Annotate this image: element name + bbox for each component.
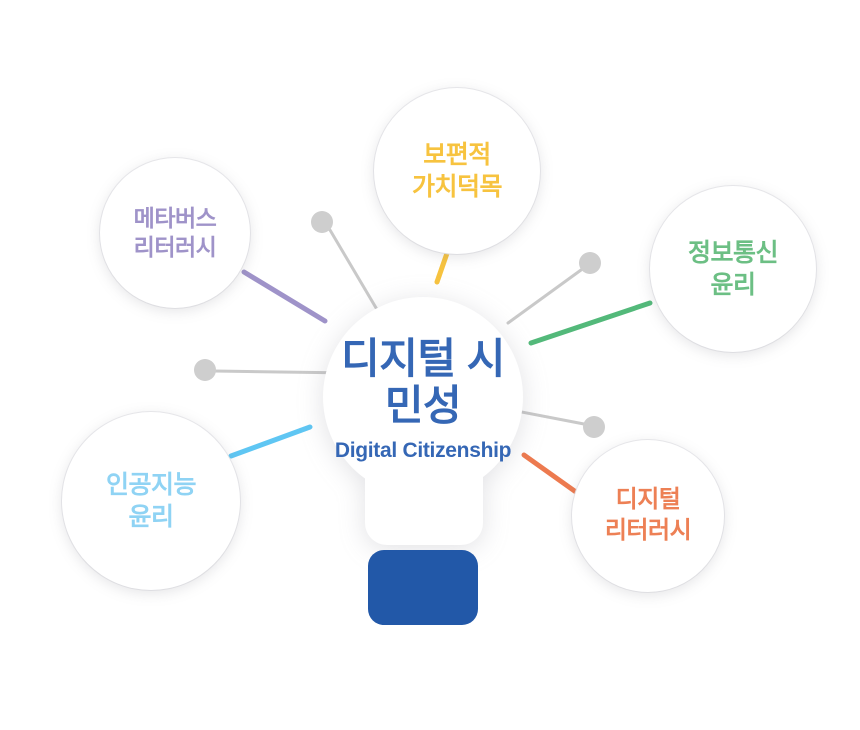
connector-information-communication-ethics	[531, 303, 650, 343]
node-digital-literacy-line1: 디지털	[616, 485, 681, 516]
node-information-communication-ethics[interactable]: 정보통신 윤리	[650, 186, 816, 352]
node-metaverse-literacy[interactable]: 메타버스 리터러시	[100, 158, 250, 308]
center-node-digital-citizenship[interactable]: 디지털 시민성 Digital Citizenship	[323, 297, 523, 547]
center-label-english-line2: Citizenship	[402, 439, 511, 462]
lightbulb-base	[368, 550, 478, 625]
node-digital-literacy-line2: 리터러시	[605, 516, 691, 547]
center-label-english-line1: Digital	[335, 439, 397, 462]
node-information-communication-ethics-line1: 정보통신	[688, 237, 778, 269]
node-metaverse-literacy-line1: 메타버스	[134, 204, 217, 233]
node-digital-literacy[interactable]: 디지털 리터러시	[572, 440, 724, 592]
node-metaverse-literacy-line2: 리터러시	[134, 233, 217, 262]
node-ai-ethics-line2: 윤리	[128, 501, 173, 533]
node-ai-ethics[interactable]: 인공지능 윤리	[62, 412, 240, 590]
connector-metaverse-literacy	[244, 272, 325, 321]
center-label-english: Digital Citizenship	[335, 438, 511, 463]
node-universal-values-line1: 보편적	[423, 139, 491, 171]
node-information-communication-ethics-line2: 윤리	[710, 269, 755, 301]
node-universal-values[interactable]: 보편적 가치덕목	[374, 88, 540, 254]
center-label-korean: 디지털 시민성	[323, 335, 523, 429]
connector-ai-ethics	[231, 427, 310, 456]
center-label-korean-line1: 디지털	[341, 335, 455, 382]
diagram-canvas: 디지털 시민성 Digital Citizenship 메타버스 리터러시 보편…	[0, 0, 860, 730]
node-universal-values-line2: 가치덕목	[412, 171, 502, 203]
node-ai-ethics-line1: 인공지능	[106, 469, 196, 501]
